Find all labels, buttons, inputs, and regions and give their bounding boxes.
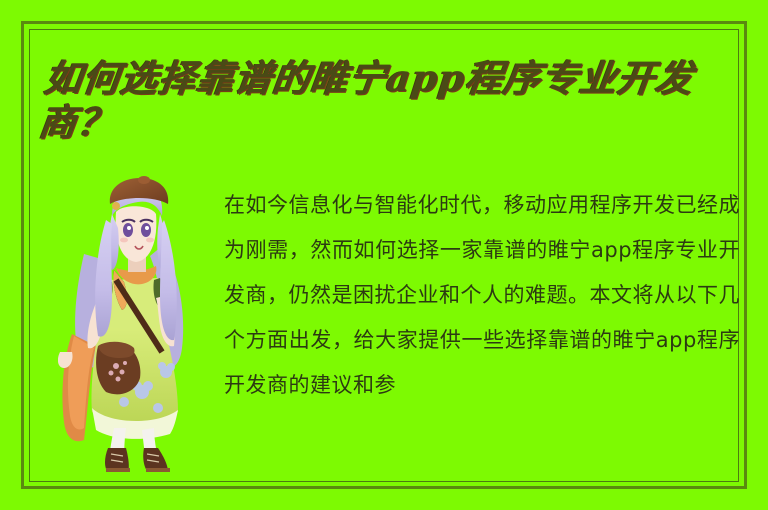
article-paragraph: 在如今信息化与智能化时代，移动应用程序开发已经成为刚需，然而如何选择一家靠谱的睢… bbox=[224, 183, 740, 408]
poster-canvas: 如何选择靠谱的睢宁app程序专业开发商？ bbox=[0, 0, 768, 510]
anime-girl-illustration bbox=[58, 176, 210, 472]
page-title: 如何选择靠谱的睢宁app程序专业开发商？ bbox=[37, 56, 738, 144]
